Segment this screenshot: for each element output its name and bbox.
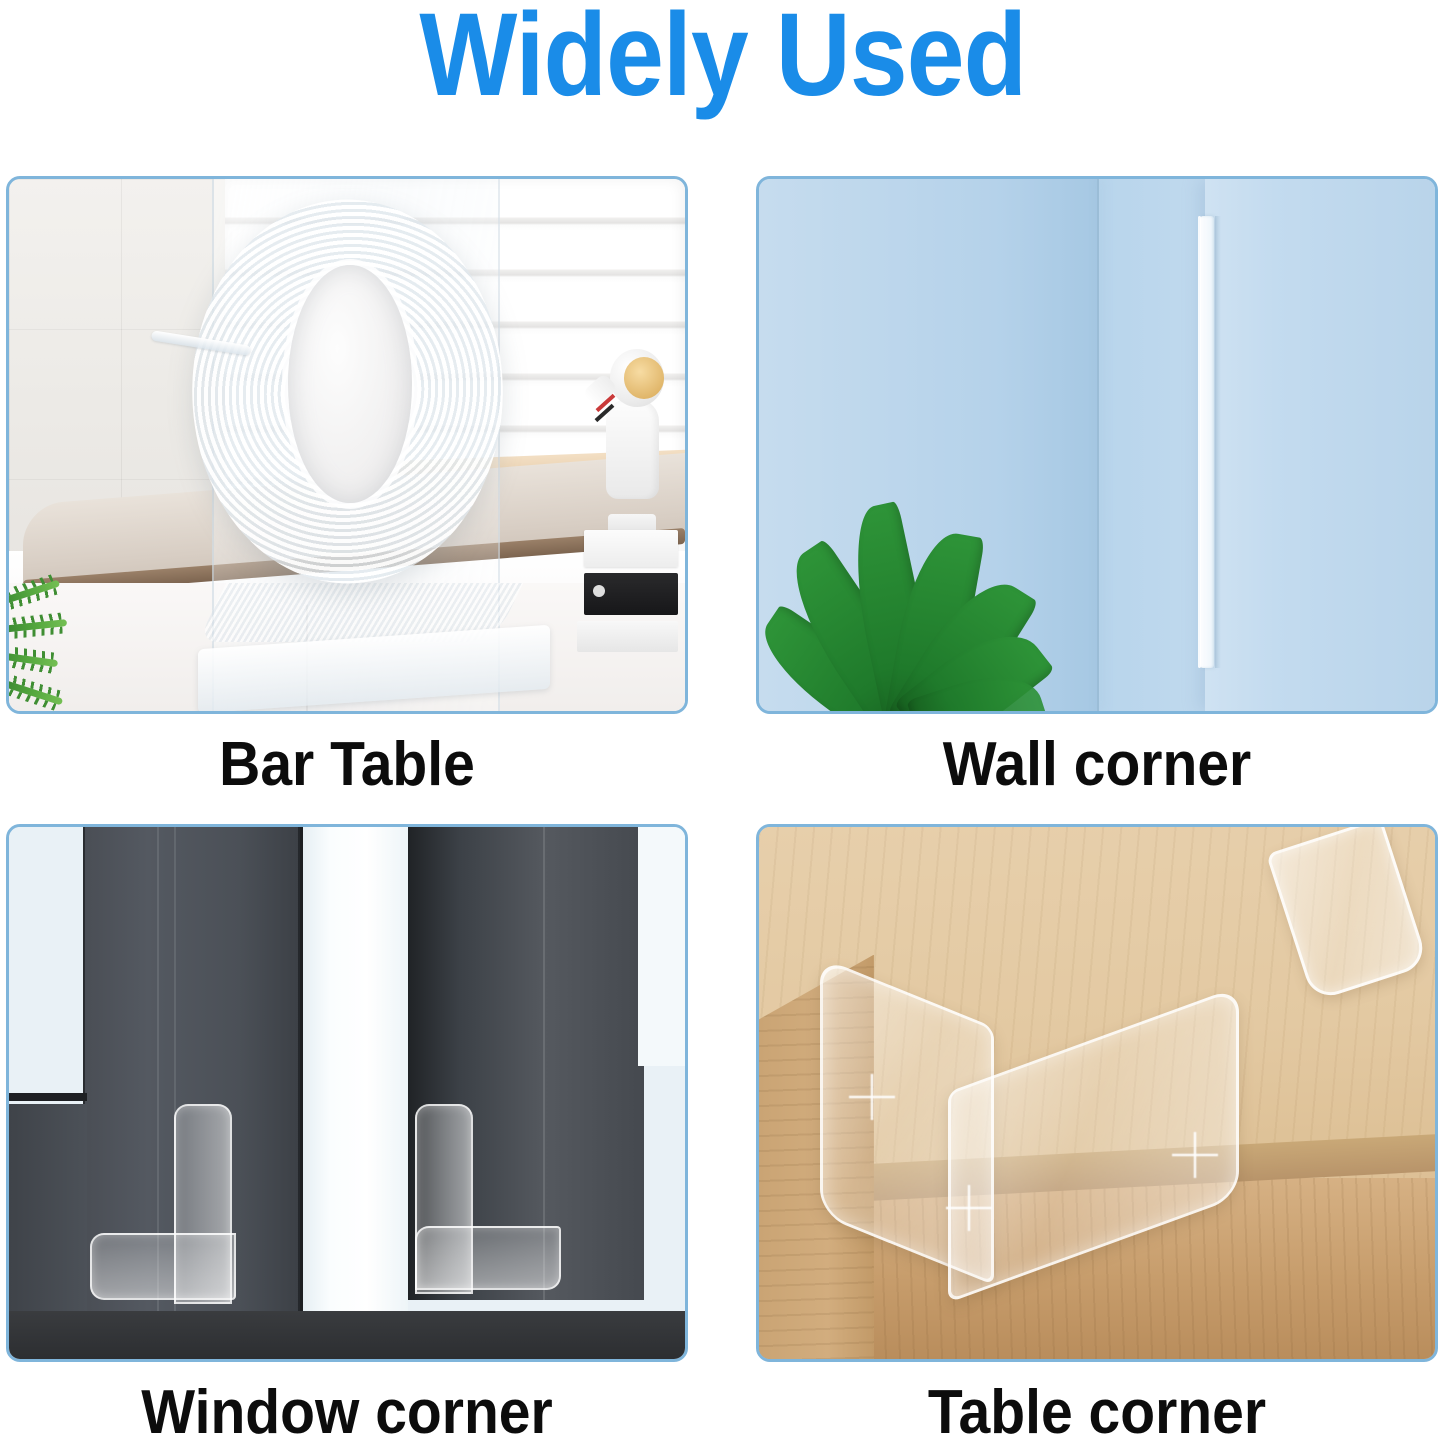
window-light-gap (300, 827, 408, 1311)
book-white (584, 530, 679, 567)
caption-bar-table: Bar Table (33, 734, 660, 796)
caption-wall-corner: Wall corner (783, 734, 1410, 796)
table-corner-guard (820, 992, 1239, 1285)
fern-frond (9, 579, 60, 609)
fern-frond (9, 619, 67, 634)
wall-corner-guard-edge (1198, 216, 1201, 668)
wall-corner-guard (1200, 216, 1214, 668)
photo-wall-corner (756, 176, 1438, 714)
fern-frond (9, 649, 57, 666)
fern-plant (9, 562, 158, 711)
corner-guard-tape-roll (192, 200, 503, 583)
astronaut-body (606, 399, 659, 499)
panel-window-corner (6, 824, 688, 1362)
panel-wall-corner (756, 176, 1438, 714)
window-corner-guard-right (415, 1104, 557, 1290)
caption-table-corner: Table corner (783, 1382, 1410, 1444)
window-frame-edge-line (300, 827, 303, 1311)
corner-guard-shadow (1215, 216, 1221, 668)
window-ledge-top (9, 1093, 87, 1101)
caption-window-corner: Window corner (33, 1382, 660, 1444)
guard-horizontal-arm (415, 1226, 561, 1290)
photo-window-corner (6, 824, 688, 1362)
photo-table-corner (756, 824, 1438, 1362)
window-ledge (9, 1104, 87, 1311)
astronaut-figurine (584, 349, 672, 541)
window-corner-guard-left (90, 1104, 232, 1301)
sparkle-icon (1172, 1132, 1218, 1178)
photo-bar-table (6, 176, 688, 714)
panel-bar-table (6, 176, 688, 714)
book-white-lower (577, 621, 678, 653)
usage-scenario-grid: Bar Table (0, 0, 1445, 1438)
wall-inner-corner (1097, 179, 1099, 711)
sparkle-icon (849, 1074, 895, 1120)
window-frame-right-glass (638, 827, 685, 1066)
green-plant (759, 477, 1043, 711)
wall-pillar (1205, 179, 1435, 711)
window-sill (9, 1311, 685, 1359)
book-black (584, 573, 679, 616)
sparkle-icon (946, 1185, 992, 1231)
panel-table-corner (756, 824, 1438, 1362)
tape-roll-core (288, 265, 412, 502)
guard-horizontal-arm (90, 1233, 236, 1300)
fern-frond (9, 675, 63, 705)
